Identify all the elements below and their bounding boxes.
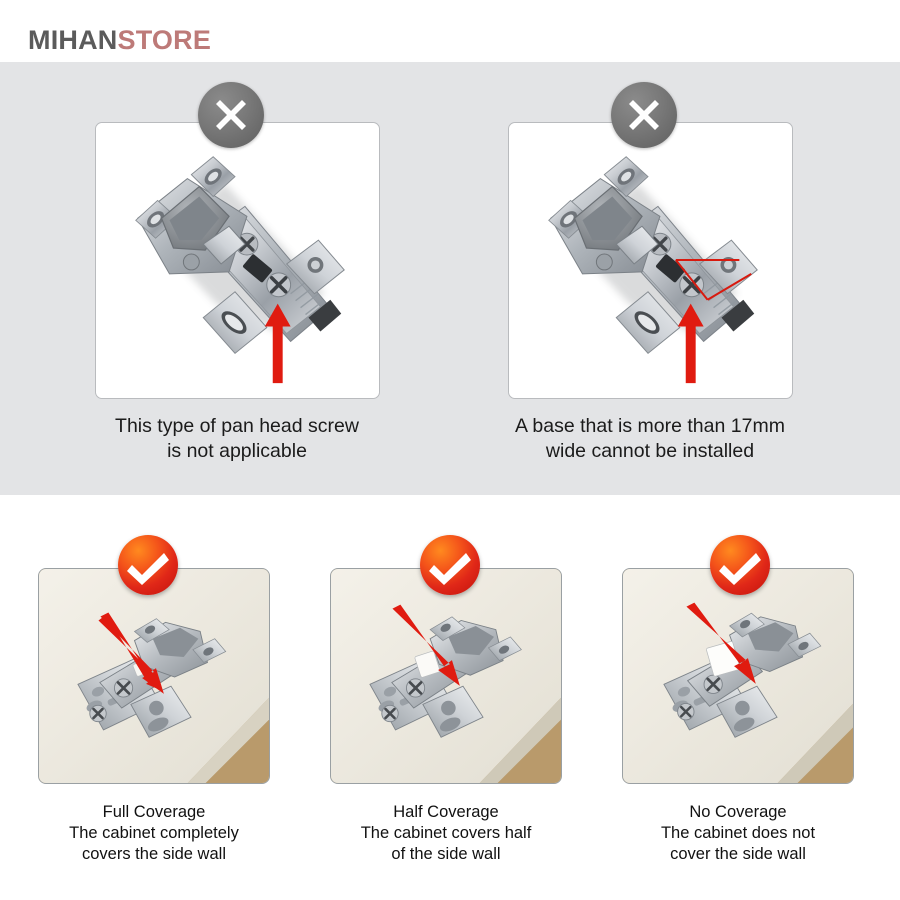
hinge-photo-full-coverage bbox=[39, 569, 269, 783]
photo-card-base-width bbox=[508, 122, 793, 399]
coverage-desc-line-2: of the side wall bbox=[316, 844, 576, 865]
coverage-desc-line-2: covers the side wall bbox=[24, 844, 284, 865]
caption-pan-head-screw: This type of pan head screw is not appli… bbox=[57, 414, 417, 464]
infographic-page: MIHANSTORE bbox=[0, 0, 900, 900]
coverage-title: Full Coverage bbox=[24, 802, 284, 823]
caption-no-coverage: No Coverage The cabinet does not cover t… bbox=[608, 802, 868, 865]
check-mark-badge bbox=[420, 535, 480, 595]
caption-line-2: wide cannot be installed bbox=[546, 440, 754, 462]
photo-card-half-coverage bbox=[330, 568, 562, 784]
caption-line-1: A base that is more than 17mm bbox=[515, 415, 785, 437]
photo-card-full-coverage bbox=[38, 568, 270, 784]
hinge-photo-half-coverage bbox=[331, 569, 561, 783]
logo-text-secondary: STORE bbox=[118, 25, 212, 55]
close-icon bbox=[629, 100, 659, 130]
check-mark-badge bbox=[710, 535, 770, 595]
coverage-title: Half Coverage bbox=[316, 802, 576, 823]
caption-line-1: This type of pan head screw bbox=[115, 415, 359, 437]
check-icon bbox=[429, 553, 471, 585]
coverage-desc-line-1: The cabinet completely bbox=[24, 823, 284, 844]
x-mark-badge bbox=[611, 82, 677, 148]
photo-card-no-coverage bbox=[622, 568, 854, 784]
caption-full-coverage: Full Coverage The cabinet completely cov… bbox=[24, 802, 284, 865]
photo-card-pan-head-screw bbox=[95, 122, 380, 399]
x-mark-badge bbox=[198, 82, 264, 148]
caption-base-width: A base that is more than 17mm wide canno… bbox=[470, 414, 830, 464]
close-icon bbox=[216, 100, 246, 130]
hinge-photo-pan-head-screw bbox=[96, 123, 379, 398]
caption-line-2: is not applicable bbox=[167, 440, 307, 462]
hinge-photo-no-coverage bbox=[623, 569, 853, 783]
check-mark-badge bbox=[118, 535, 178, 595]
logo-text-primary: MIHAN bbox=[28, 25, 118, 55]
check-icon bbox=[719, 553, 761, 585]
check-icon bbox=[127, 553, 169, 585]
coverage-title: No Coverage bbox=[608, 802, 868, 823]
coverage-desc-line-2: cover the side wall bbox=[608, 844, 868, 865]
caption-half-coverage: Half Coverage The cabinet covers half of… bbox=[316, 802, 576, 865]
coverage-desc-line-1: The cabinet covers half bbox=[316, 823, 576, 844]
logo-bar: MIHANSTORE bbox=[0, 0, 900, 64]
coverage-desc-line-1: The cabinet does not bbox=[608, 823, 868, 844]
brand-logo: MIHANSTORE bbox=[28, 27, 211, 54]
hinge-photo-base-width bbox=[509, 123, 792, 398]
